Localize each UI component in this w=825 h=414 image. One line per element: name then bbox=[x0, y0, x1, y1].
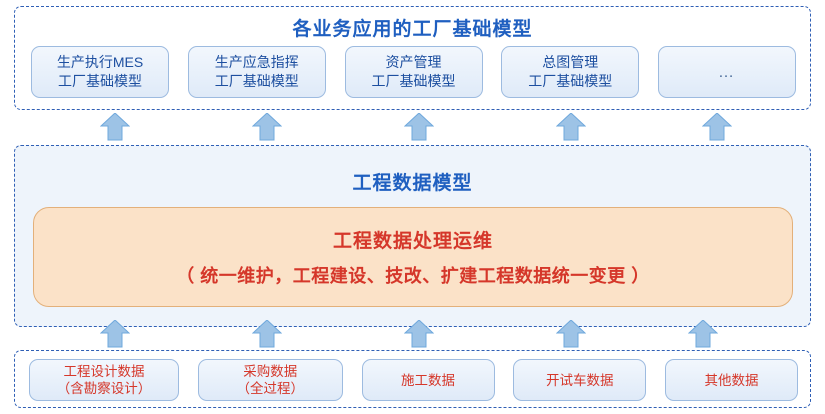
up-arrow-icon-4 bbox=[556, 113, 586, 141]
data-box-design[interactable]: 工程设计数据 （含勘察设计） bbox=[29, 359, 179, 401]
up-arrow-icon-10 bbox=[688, 320, 718, 348]
data-box-construction-line1: 施工数据 bbox=[401, 372, 455, 389]
app-box-emergency-line2: 工厂基础模型 bbox=[215, 72, 299, 91]
app-box-mes-line1: 生产执行MES bbox=[57, 53, 143, 72]
diagram-canvas: 各业务应用的工厂基础模型 生产执行MES 工厂基础模型 生产应急指挥 工厂基础模… bbox=[0, 0, 825, 414]
application-box-row: 生产执行MES 工厂基础模型 生产应急指挥 工厂基础模型 资产管理 工厂基础模型… bbox=[31, 46, 796, 98]
up-arrow-icon-6 bbox=[100, 320, 130, 348]
data-box-commissioning[interactable]: 开试车数据 bbox=[513, 359, 646, 401]
app-box-mes[interactable]: 生产执行MES 工厂基础模型 bbox=[31, 46, 169, 98]
data-box-procurement-line1: 采购数据 bbox=[243, 363, 297, 380]
up-arrow-icon-9 bbox=[556, 320, 586, 348]
data-box-commissioning-line1: 开试车数据 bbox=[546, 372, 614, 389]
app-box-masterplan[interactable]: 总图管理 工厂基础模型 bbox=[501, 46, 639, 98]
up-arrow-icon-7 bbox=[252, 320, 282, 348]
data-box-construction[interactable]: 施工数据 bbox=[362, 359, 495, 401]
app-box-masterplan-line2: 工厂基础模型 bbox=[528, 72, 612, 91]
app-box-asset-line1: 资产管理 bbox=[386, 53, 442, 72]
engineering-data-ops-subtitle: （ 统一维护，工程建设、技改、扩建工程数据统一变更 ） bbox=[176, 262, 650, 288]
app-box-emergency-line1: 生产应急指挥 bbox=[215, 53, 299, 72]
source-data-box-row: 工程设计数据 （含勘察设计） 采购数据 （全过程） 施工数据 开试车数据 其他数… bbox=[29, 359, 798, 401]
data-box-design-line1: 工程设计数据 bbox=[64, 363, 145, 380]
data-box-other[interactable]: 其他数据 bbox=[665, 359, 798, 401]
app-box-emergency[interactable]: 生产应急指挥 工厂基础模型 bbox=[188, 46, 326, 98]
up-arrow-icon-2 bbox=[252, 113, 282, 141]
application-layer-title: 各业务应用的工厂基础模型 bbox=[15, 14, 810, 41]
app-box-more-label: … bbox=[718, 63, 736, 82]
app-box-asset-line2: 工厂基础模型 bbox=[372, 72, 456, 91]
up-arrow-icon-5 bbox=[702, 113, 732, 141]
engineering-data-ops-title: 工程数据处理运维 bbox=[333, 226, 493, 253]
up-arrow-icon-8 bbox=[404, 320, 434, 348]
up-arrow-icon-3 bbox=[404, 113, 434, 141]
engineering-data-ops-box: 工程数据处理运维 （ 统一维护，工程建设、技改、扩建工程数据统一变更 ） bbox=[33, 207, 793, 307]
app-box-masterplan-line1: 总图管理 bbox=[542, 53, 598, 72]
app-box-mes-line2: 工厂基础模型 bbox=[58, 72, 142, 91]
data-box-procurement[interactable]: 采购数据 （全过程） bbox=[198, 359, 343, 401]
application-layer-panel: 各业务应用的工厂基础模型 生产执行MES 工厂基础模型 生产应急指挥 工厂基础模… bbox=[14, 6, 811, 110]
engineering-data-model-panel: 工程数据模型 工程数据处理运维 （ 统一维护，工程建设、技改、扩建工程数据统一变… bbox=[14, 145, 811, 327]
data-box-design-line2: （含勘察设计） bbox=[57, 380, 152, 397]
data-box-procurement-line2: （全过程） bbox=[237, 380, 305, 397]
data-box-other-line1: 其他数据 bbox=[705, 372, 759, 389]
engineering-data-model-title: 工程数据模型 bbox=[15, 168, 810, 195]
up-arrow-icon-1 bbox=[100, 113, 130, 141]
source-data-panel: 工程设计数据 （含勘察设计） 采购数据 （全过程） 施工数据 开试车数据 其他数… bbox=[14, 350, 811, 408]
app-box-more[interactable]: … bbox=[658, 46, 796, 98]
app-box-asset[interactable]: 资产管理 工厂基础模型 bbox=[345, 46, 483, 98]
